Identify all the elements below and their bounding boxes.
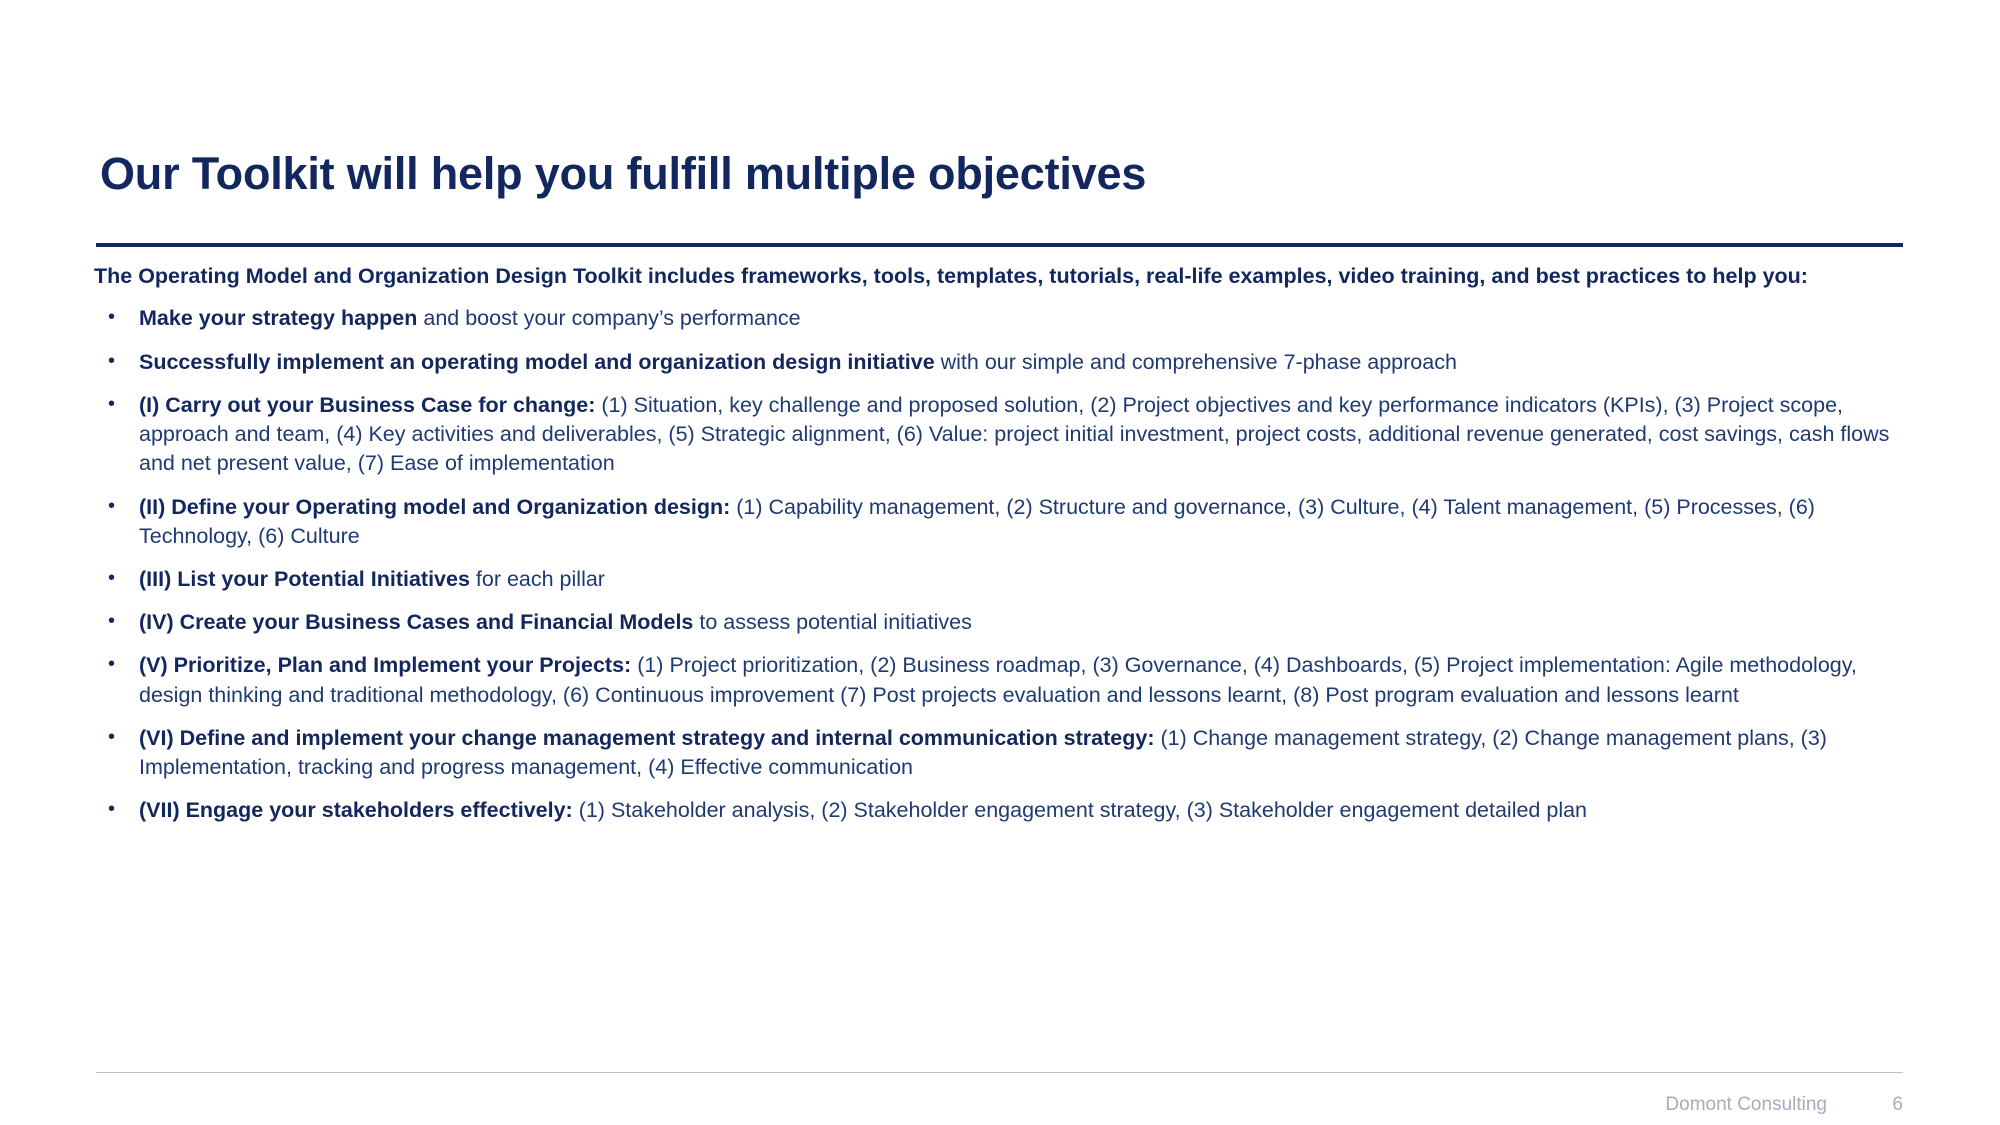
footer-divider (96, 1072, 1903, 1073)
list-item: (III) List your Potential Initiatives fo… (94, 565, 1909, 594)
list-item: Successfully implement an operating mode… (94, 348, 1909, 377)
list-item: (II) Define your Operating model and Org… (94, 493, 1909, 551)
list-item-rest: for each pillar (470, 567, 605, 591)
list-item-lead: (VI) Define and implement your change ma… (139, 726, 1155, 750)
title-divider (96, 243, 1903, 247)
list-item: (I) Carry out your Business Case for cha… (94, 391, 1909, 479)
list-item-lead: (III) List your Potential Initiatives (139, 567, 470, 591)
page-title: Our Toolkit will help you fulfill multip… (100, 148, 1146, 200)
list-item-rest: (1) Stakeholder analysis, (2) Stakeholde… (573, 798, 1587, 822)
slide-footer: Domont Consulting 6 (96, 1090, 1903, 1120)
list-item-lead: Make your strategy happen (139, 306, 417, 330)
list-item-lead: (II) Define your Operating model and Org… (139, 495, 730, 519)
list-item-rest: and boost your company’s performance (417, 306, 800, 330)
list-item: (V) Prioritize, Plan and Implement your … (94, 651, 1909, 709)
list-item-lead: Successfully implement an operating mode… (139, 350, 935, 374)
slide-canvas: Our Toolkit will help you fulfill multip… (0, 0, 2000, 1125)
footer-page-number: 6 (1883, 1094, 1903, 1116)
footer-brand: Domont Consulting (1665, 1094, 1827, 1116)
list-item-rest: to assess potential initiatives (693, 610, 971, 634)
list-item-lead: (IV) Create your Business Cases and Fina… (139, 610, 693, 634)
list-item-lead: (VII) Engage your stakeholders effective… (139, 798, 573, 822)
list-item-lead: (I) Carry out your Business Case for cha… (139, 393, 595, 417)
list-item: (VI) Define and implement your change ma… (94, 724, 1909, 782)
list-item-rest: with our simple and comprehensive 7-phas… (935, 350, 1457, 374)
objectives-list: Make your strategy happen and boost your… (94, 304, 1909, 825)
intro-paragraph: The Operating Model and Organization Des… (94, 262, 1894, 290)
list-item: (VII) Engage your stakeholders effective… (94, 796, 1909, 825)
slide-body: The Operating Model and Organization Des… (94, 262, 1909, 840)
list-item-lead: (V) Prioritize, Plan and Implement your … (139, 653, 631, 677)
list-item: Make your strategy happen and boost your… (94, 304, 1909, 333)
list-item: (IV) Create your Business Cases and Fina… (94, 608, 1909, 637)
